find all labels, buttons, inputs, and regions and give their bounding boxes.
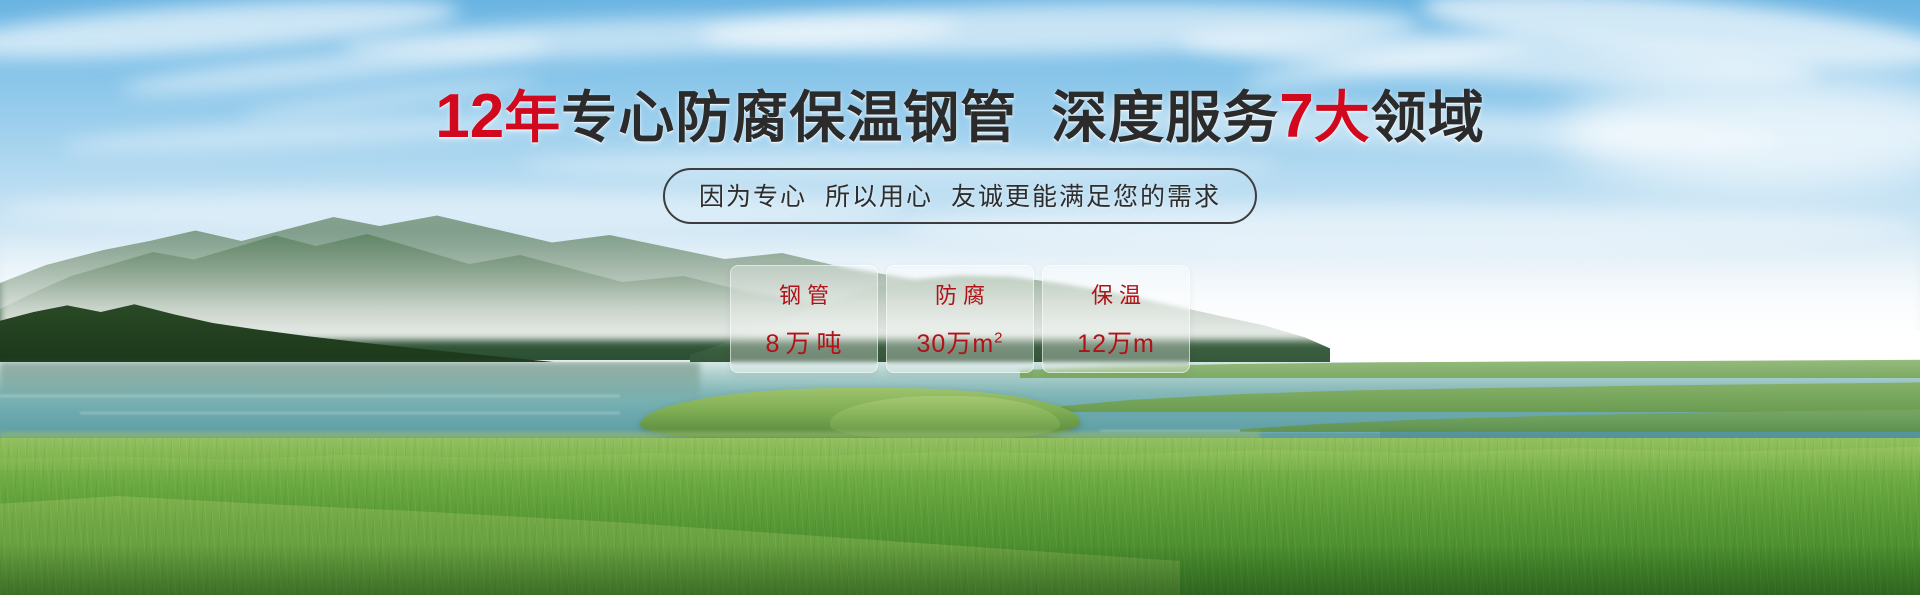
headline-main-text: 专心防腐保温钢管	[561, 86, 1017, 149]
stat-value-suffix: m	[1133, 330, 1155, 358]
stat-card-label: 钢管	[773, 278, 835, 310]
banner-content: 12年专心防腐保温钢管深度服务7大领域 因为专心所以用心友诚更能满足您的需求 钢…	[0, 0, 1920, 595]
stat-value-unit: 万	[1107, 330, 1133, 358]
stat-card-anticorrosion: 防腐 30万m2	[886, 265, 1034, 373]
subtitle-pill: 因为专心所以用心友诚更能满足您的需求	[663, 168, 1257, 224]
headline-years-unit: 年	[504, 86, 561, 149]
headline: 12年专心防腐保温钢管深度服务7大领域	[0, 86, 1920, 148]
subtitle-part-1: 因为专心	[699, 183, 807, 211]
stat-card-value: 30万m2	[917, 324, 1004, 360]
stat-value-suffix: 吨	[816, 330, 842, 358]
headline-service-text: 深度服务	[1051, 86, 1279, 149]
stat-value-suffix: m	[972, 330, 994, 358]
stat-card-label: 保温	[1085, 278, 1147, 310]
headline-years-number: 12	[435, 82, 504, 151]
stat-card-insulation: 保温 12万m	[1042, 265, 1190, 373]
subtitle-part-3: 友诚更能满足您的需求	[951, 183, 1221, 211]
stat-value-number: 12	[1077, 330, 1107, 358]
headline-fields-unit: 大	[1314, 86, 1371, 149]
stat-value-unit: 万	[946, 330, 972, 358]
stat-value-unit: 万	[785, 330, 811, 358]
stat-card-list: 钢管 8万吨 防腐 30万m2 保温 12万m	[730, 265, 1190, 373]
stat-card-label: 防腐	[929, 278, 991, 310]
stat-value-superscript: 2	[994, 330, 1003, 347]
headline-fields-tail: 领域	[1371, 86, 1485, 149]
subtitle-part-2: 所以用心	[825, 183, 933, 211]
headline-fields-number: 7	[1279, 82, 1313, 151]
stat-card-value: 8万吨	[766, 324, 843, 360]
stat-value-number: 8	[766, 330, 781, 358]
stat-card-steel-pipe: 钢管 8万吨	[730, 265, 878, 373]
stat-value-number: 30	[917, 330, 947, 358]
stat-card-value: 12万m	[1077, 324, 1155, 360]
hero-banner: 12年专心防腐保温钢管深度服务7大领域 因为专心所以用心友诚更能满足您的需求 钢…	[0, 0, 1920, 595]
